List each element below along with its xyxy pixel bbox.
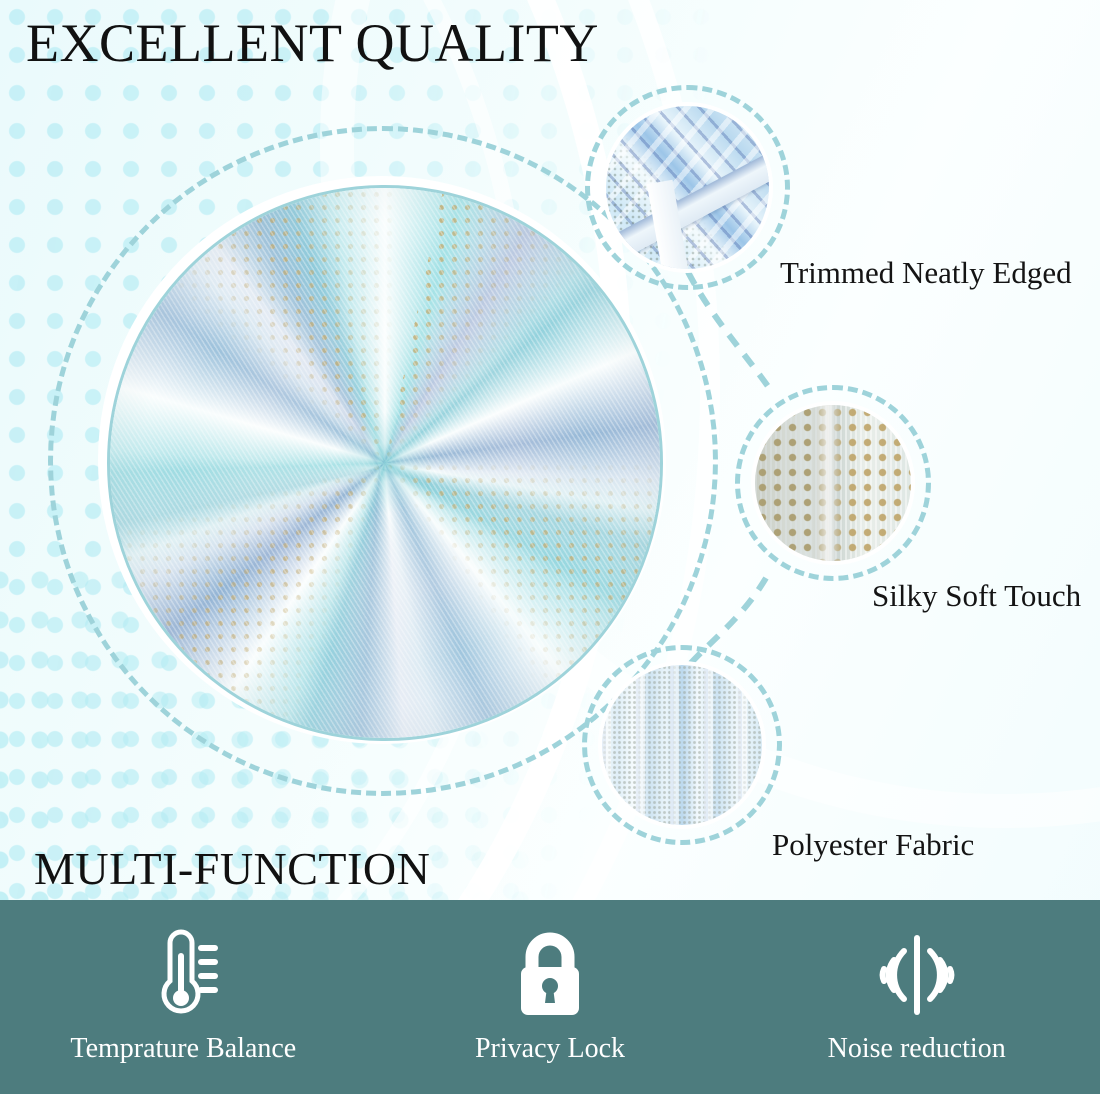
pleat-highlights	[602, 665, 762, 825]
callout-3-photo	[598, 661, 766, 829]
callout-circle-silky-touch	[735, 385, 931, 581]
callout-label-trimmed-edge: Trimmed Neatly Edged	[780, 255, 1072, 291]
feature-bar: Temprature Balance Privacy Lock	[0, 900, 1100, 1094]
feature-label-privacy-lock: Privacy Lock	[475, 1033, 625, 1065]
page-title: EXCELLENT QUALITY	[26, 12, 599, 74]
callout-label-polyester-fabric: Polyester Fabric	[772, 827, 974, 863]
thermometer-icon	[140, 929, 226, 1021]
main-fabric-photo	[98, 176, 666, 744]
callout-2-photo	[751, 401, 915, 565]
infographic-page: EXCELLENT QUALITY	[0, 0, 1100, 1100]
fabric-vignette	[110, 188, 660, 738]
section-title-multi-function: MULTI-FUNCTION	[34, 842, 430, 895]
bar-bottom-white-strip	[0, 1094, 1100, 1100]
feature-label-temperature-balance: Temprature Balance	[70, 1033, 296, 1065]
sound-wave-icon	[862, 929, 972, 1021]
feature-noise-reduction: Noise reduction	[733, 929, 1100, 1065]
feature-label-noise-reduction: Noise reduction	[828, 1033, 1006, 1065]
callout-1-photo	[602, 102, 773, 273]
callout-label-silky-touch: Silky Soft Touch	[872, 578, 1081, 614]
silky-fold-highlight	[755, 405, 911, 561]
callout-circle-polyester-fabric	[582, 645, 782, 845]
feature-temperature-balance: Temprature Balance	[0, 929, 367, 1065]
feature-privacy-lock: Privacy Lock	[367, 929, 734, 1065]
padlock-icon	[507, 929, 593, 1021]
callout-circle-trimmed-edge	[585, 85, 790, 290]
